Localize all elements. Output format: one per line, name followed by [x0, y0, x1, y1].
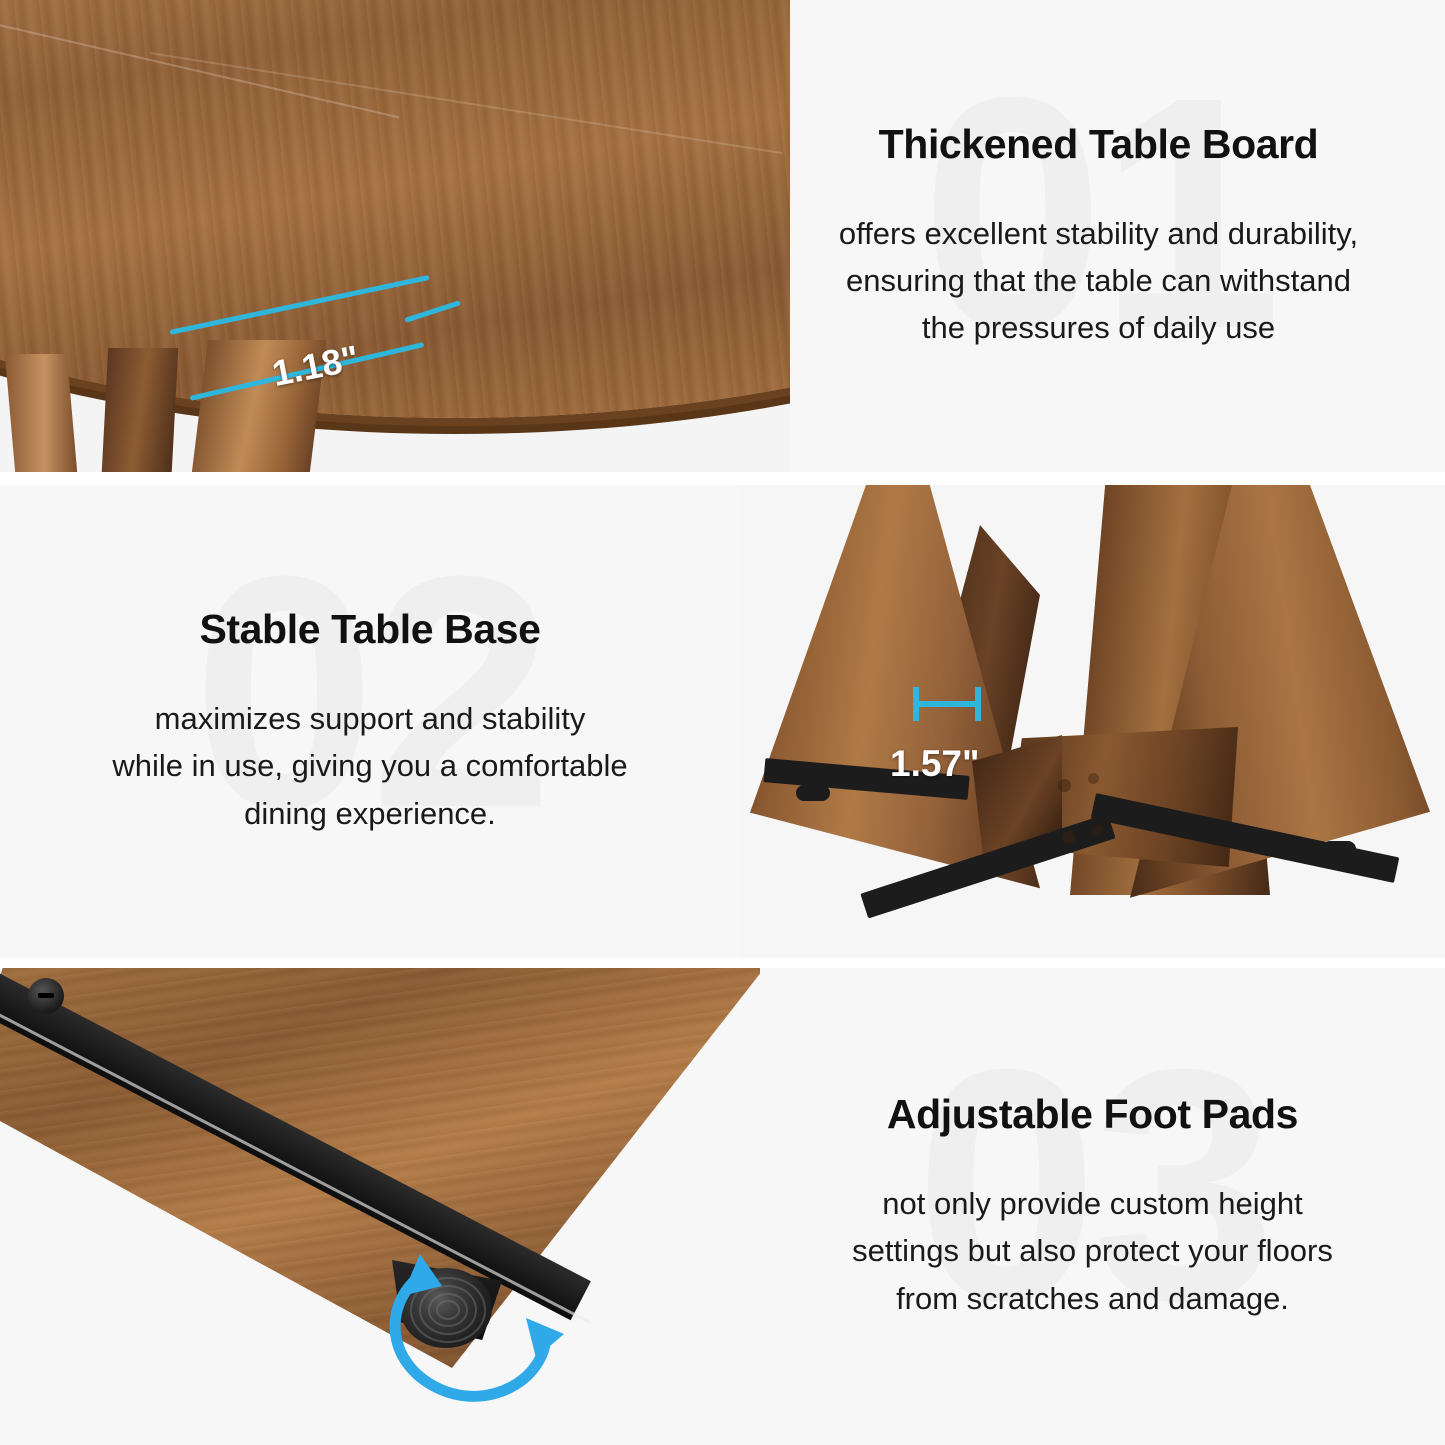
panel-divider	[0, 958, 1445, 968]
base-foot-pad-nub	[908, 877, 948, 895]
feature-text-01: 01 Thickened Table Board offers excellen…	[752, 0, 1445, 472]
feature-panel-01: 1.18" 01 Thickened Table Board offers ex…	[0, 0, 1445, 472]
base-foot-pad-nub	[1322, 841, 1356, 857]
feature-heading-01: Thickened Table Board	[879, 121, 1319, 168]
feature-body-03: not only provide custom height settings …	[852, 1180, 1333, 1321]
feature-text-03: 03 Adjustable Foot Pads not only provide…	[740, 968, 1445, 1445]
feature-heading-03: Adjustable Foot Pads	[887, 1091, 1298, 1138]
feature-panel-03: 03 Adjustable Foot Pads not only provide…	[0, 968, 1445, 1445]
product-photo-table-base: 1.57"	[740, 485, 1445, 958]
table-leg	[102, 348, 178, 472]
feature-body-01: offers excellent stability and durabilit…	[839, 210, 1358, 351]
assembly-screw-slot	[38, 993, 54, 998]
body-line: the pressures of daily use	[922, 310, 1275, 345]
assembly-screw	[1058, 779, 1071, 792]
body-line: settings but also protect your floors	[852, 1233, 1333, 1268]
dimension-label-width: 1.57"	[890, 743, 980, 785]
dimension-marker-width	[908, 681, 988, 727]
base-foot-pad-nub	[796, 785, 830, 801]
feature-body-02: maximizes support and stability while in…	[112, 695, 627, 836]
assembly-screw	[1088, 773, 1099, 784]
body-line: ensuring that the table can withstand	[846, 263, 1351, 298]
product-photo-foot-pad	[0, 968, 760, 1445]
assembly-screw	[1092, 825, 1103, 836]
body-line: offers excellent stability and durabilit…	[839, 216, 1358, 251]
body-line: maximizes support and stability	[155, 701, 586, 736]
feature-text-02: 02 Stable Table Base maximizes support a…	[0, 485, 740, 958]
feature-panel-02: 02 Stable Table Base maximizes support a…	[0, 485, 1445, 958]
panel-divider	[0, 472, 1445, 485]
body-line: not only provide custom height	[882, 1186, 1302, 1221]
product-photo-table-top: 1.18"	[0, 0, 790, 472]
product-feature-infographic: 1.18" 01 Thickened Table Board offers ex…	[0, 0, 1445, 1445]
body-line: dining experience.	[244, 796, 496, 831]
rotation-arrow-icon	[368, 1240, 578, 1410]
body-line: while in use, giving you a comfortable	[112, 748, 627, 783]
feature-heading-02: Stable Table Base	[199, 606, 540, 653]
assembly-screw	[1062, 831, 1075, 844]
table-leg	[5, 354, 77, 472]
body-line: from scratches and damage.	[896, 1281, 1289, 1316]
